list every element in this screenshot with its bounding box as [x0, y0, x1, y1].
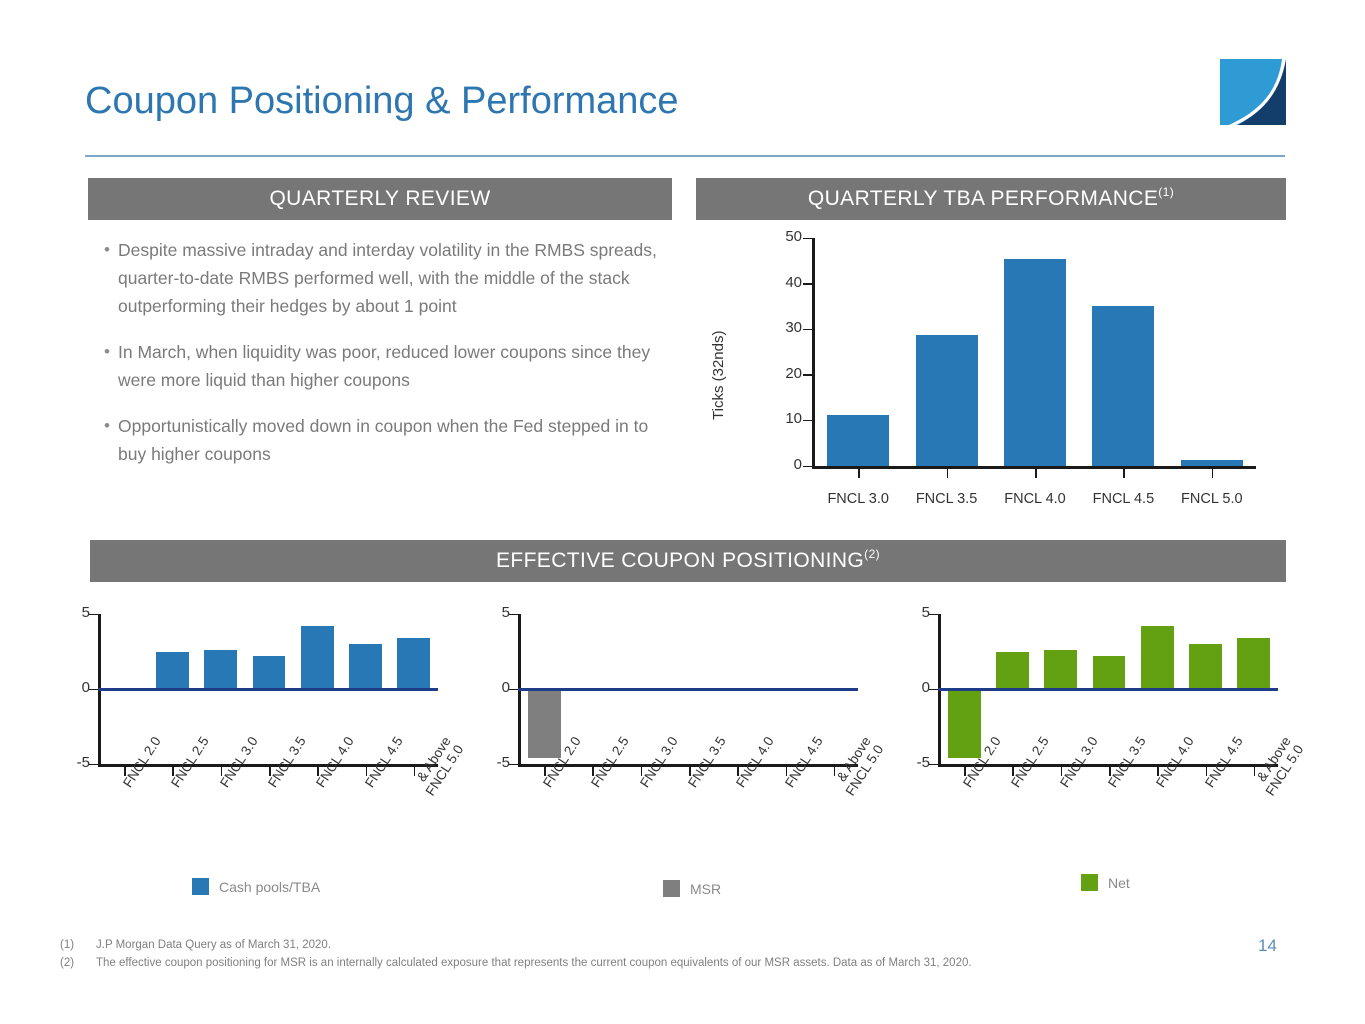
bar — [1092, 306, 1154, 466]
legend-swatch-net — [1081, 874, 1098, 891]
band-effective-coupon: EFFECTIVE COUPON POSITIONING(2) — [90, 540, 1286, 582]
axis-x-line — [812, 466, 1256, 469]
bar — [301, 626, 334, 689]
footnote-2-text: The effective coupon positioning for MSR… — [96, 954, 972, 972]
legend-msr: MSR — [663, 880, 721, 897]
axis-y-tick — [89, 689, 98, 691]
bullet-dot-icon: • — [96, 338, 118, 366]
axis-x-tick — [1123, 469, 1125, 478]
legend-swatch-msr — [663, 880, 680, 897]
footnote-2: (2) The effective coupon positioning for… — [60, 954, 1260, 972]
axis-y-tick — [509, 614, 518, 616]
axis-x-ticklabel: FNCL 3.5 — [902, 491, 990, 507]
chart-effective-coupon-msr: -505FNCL 2.0FNCL 2.5FNCL 3.0FNCL 3.5FNCL… — [458, 596, 888, 926]
axis-y-ticklabel: 5 — [886, 604, 930, 621]
axis-x-ticklabel: FNCL 4.0 — [991, 491, 1079, 507]
bar — [1141, 626, 1174, 689]
legend-label-msr: MSR — [690, 881, 721, 897]
page-title: Coupon Positioning & Performance — [85, 80, 679, 123]
axis-y-ticklabel: 10 — [762, 410, 802, 427]
zero-reference-line — [518, 688, 858, 691]
axis-y-ticklabel: -5 — [886, 754, 930, 771]
bar — [1181, 460, 1243, 466]
axis-x-ticklabel: FNCL 5.0 — [1168, 491, 1256, 507]
quarterly-review-bullet-list: • Despite massive intraday and interday … — [96, 236, 676, 486]
footnote-1: (1) J.P Morgan Data Query as of March 31… — [60, 936, 1260, 954]
axis-y-line — [812, 238, 815, 466]
axis-y-tick — [803, 374, 812, 376]
axis-y-tick — [509, 689, 518, 691]
legend-net: Net — [1081, 874, 1130, 891]
chart-effective-coupon-cash-pools-tba: -505FNCL 2.0FNCL 2.5FNCL 3.0FNCL 3.5FNCL… — [38, 596, 468, 926]
axis-y-ticklabel: 50 — [762, 228, 802, 245]
band-effective-coupon-label: EFFECTIVE COUPON POSITIONING — [496, 549, 864, 573]
chart-quarterly-tba-performance: Ticks (32nds) 01020304050 FNCL 3.0FNCL 3… — [696, 230, 1286, 515]
axis-y-tick — [803, 420, 812, 422]
axis-y-ticklabel: 5 — [466, 604, 510, 621]
axis-y-ticklabel: 5 — [46, 604, 90, 621]
axis-y-ticklabel: 0 — [762, 456, 802, 473]
axis-y-tick — [509, 764, 518, 766]
bar — [1044, 650, 1077, 689]
bar — [948, 689, 981, 758]
axis-x-tick — [1035, 469, 1037, 478]
bullet-dot-icon: • — [96, 236, 118, 264]
axis-x-tick — [947, 469, 949, 478]
axis-x-ticklabel: FNCL 4.5 — [1079, 491, 1167, 507]
bar — [827, 415, 889, 466]
bar — [1093, 656, 1126, 689]
axis-y-tick — [929, 614, 938, 616]
band-quarterly-tba: QUARTERLY TBA PERFORMANCE(1) — [696, 178, 1286, 220]
axis-y-tick — [803, 238, 812, 240]
plot-area — [814, 238, 1256, 466]
bar — [397, 638, 430, 689]
page-number: 14 — [1258, 936, 1277, 956]
axis-label-y: Ticks (32nds) — [710, 331, 727, 420]
bar — [349, 644, 382, 689]
band-effective-coupon-footnote-ref: (2) — [864, 547, 880, 561]
bar — [156, 652, 189, 690]
legend-swatch-cash-pools-tba — [192, 878, 209, 895]
bar — [528, 689, 561, 758]
slide-canvas: Coupon Positioning & Performance QUARTER… — [0, 0, 1365, 1024]
footnote-1-number: (1) — [60, 936, 96, 954]
axis-y-ticklabel: -5 — [466, 754, 510, 771]
footnote-2-number: (2) — [60, 954, 96, 972]
list-item: • Opportunistically moved down in coupon… — [96, 412, 676, 468]
band-quarterly-tba-label: QUARTERLY TBA PERFORMANCE — [808, 187, 1158, 211]
bar — [1189, 644, 1222, 689]
legend-label-net: Net — [1108, 875, 1130, 891]
axis-x-tick — [1212, 469, 1214, 478]
axis-y-ticklabel: 0 — [886, 679, 930, 696]
bar — [1237, 638, 1270, 689]
bullet-dot-icon: • — [96, 412, 118, 440]
axis-x-tick — [858, 469, 860, 478]
company-logo-icon — [1216, 55, 1290, 137]
axis-y-ticklabel: 30 — [762, 319, 802, 336]
list-item: • Despite massive intraday and interday … — [96, 236, 676, 320]
legend-cash-pools-tba: Cash pools/TBA — [192, 878, 320, 895]
band-quarterly-review: QUARTERLY REVIEW — [88, 178, 672, 220]
footnotes: (1) J.P Morgan Data Query as of March 31… — [60, 936, 1260, 972]
axis-y-ticklabel: 20 — [762, 365, 802, 382]
zero-reference-line — [938, 688, 1278, 691]
axis-y-ticklabel: 40 — [762, 274, 802, 291]
bullet-text: In March, when liquidity was poor, reduc… — [118, 338, 676, 394]
title-divider — [85, 155, 1285, 157]
axis-y-tick — [89, 764, 98, 766]
axis-y-ticklabel: 0 — [46, 679, 90, 696]
bar — [916, 335, 978, 466]
bullet-text: Opportunistically moved down in coupon w… — [118, 412, 676, 468]
axis-y-tick — [89, 614, 98, 616]
bar — [996, 652, 1029, 690]
axis-y-tick — [929, 764, 938, 766]
axis-y-tick — [803, 283, 812, 285]
bar — [204, 650, 237, 689]
axis-y-ticklabel: 0 — [466, 679, 510, 696]
axis-y-ticklabel: -5 — [46, 754, 90, 771]
band-quarterly-review-label: QUARTERLY REVIEW — [269, 187, 490, 211]
axis-y-tick — [929, 689, 938, 691]
footnote-1-text: J.P Morgan Data Query as of March 31, 20… — [96, 936, 331, 954]
axis-x-ticklabel: FNCL 3.0 — [814, 491, 902, 507]
band-quarterly-tba-footnote-ref: (1) — [1158, 185, 1174, 199]
axis-y-tick — [803, 329, 812, 331]
list-item: • In March, when liquidity was poor, red… — [96, 338, 676, 394]
legend-label-cash-pools-tba: Cash pools/TBA — [219, 879, 320, 895]
bar — [1004, 259, 1066, 466]
axis-y-tick — [803, 466, 812, 468]
bar — [253, 656, 286, 689]
zero-reference-line — [98, 688, 438, 691]
bullet-text: Despite massive intraday and interday vo… — [118, 236, 676, 320]
